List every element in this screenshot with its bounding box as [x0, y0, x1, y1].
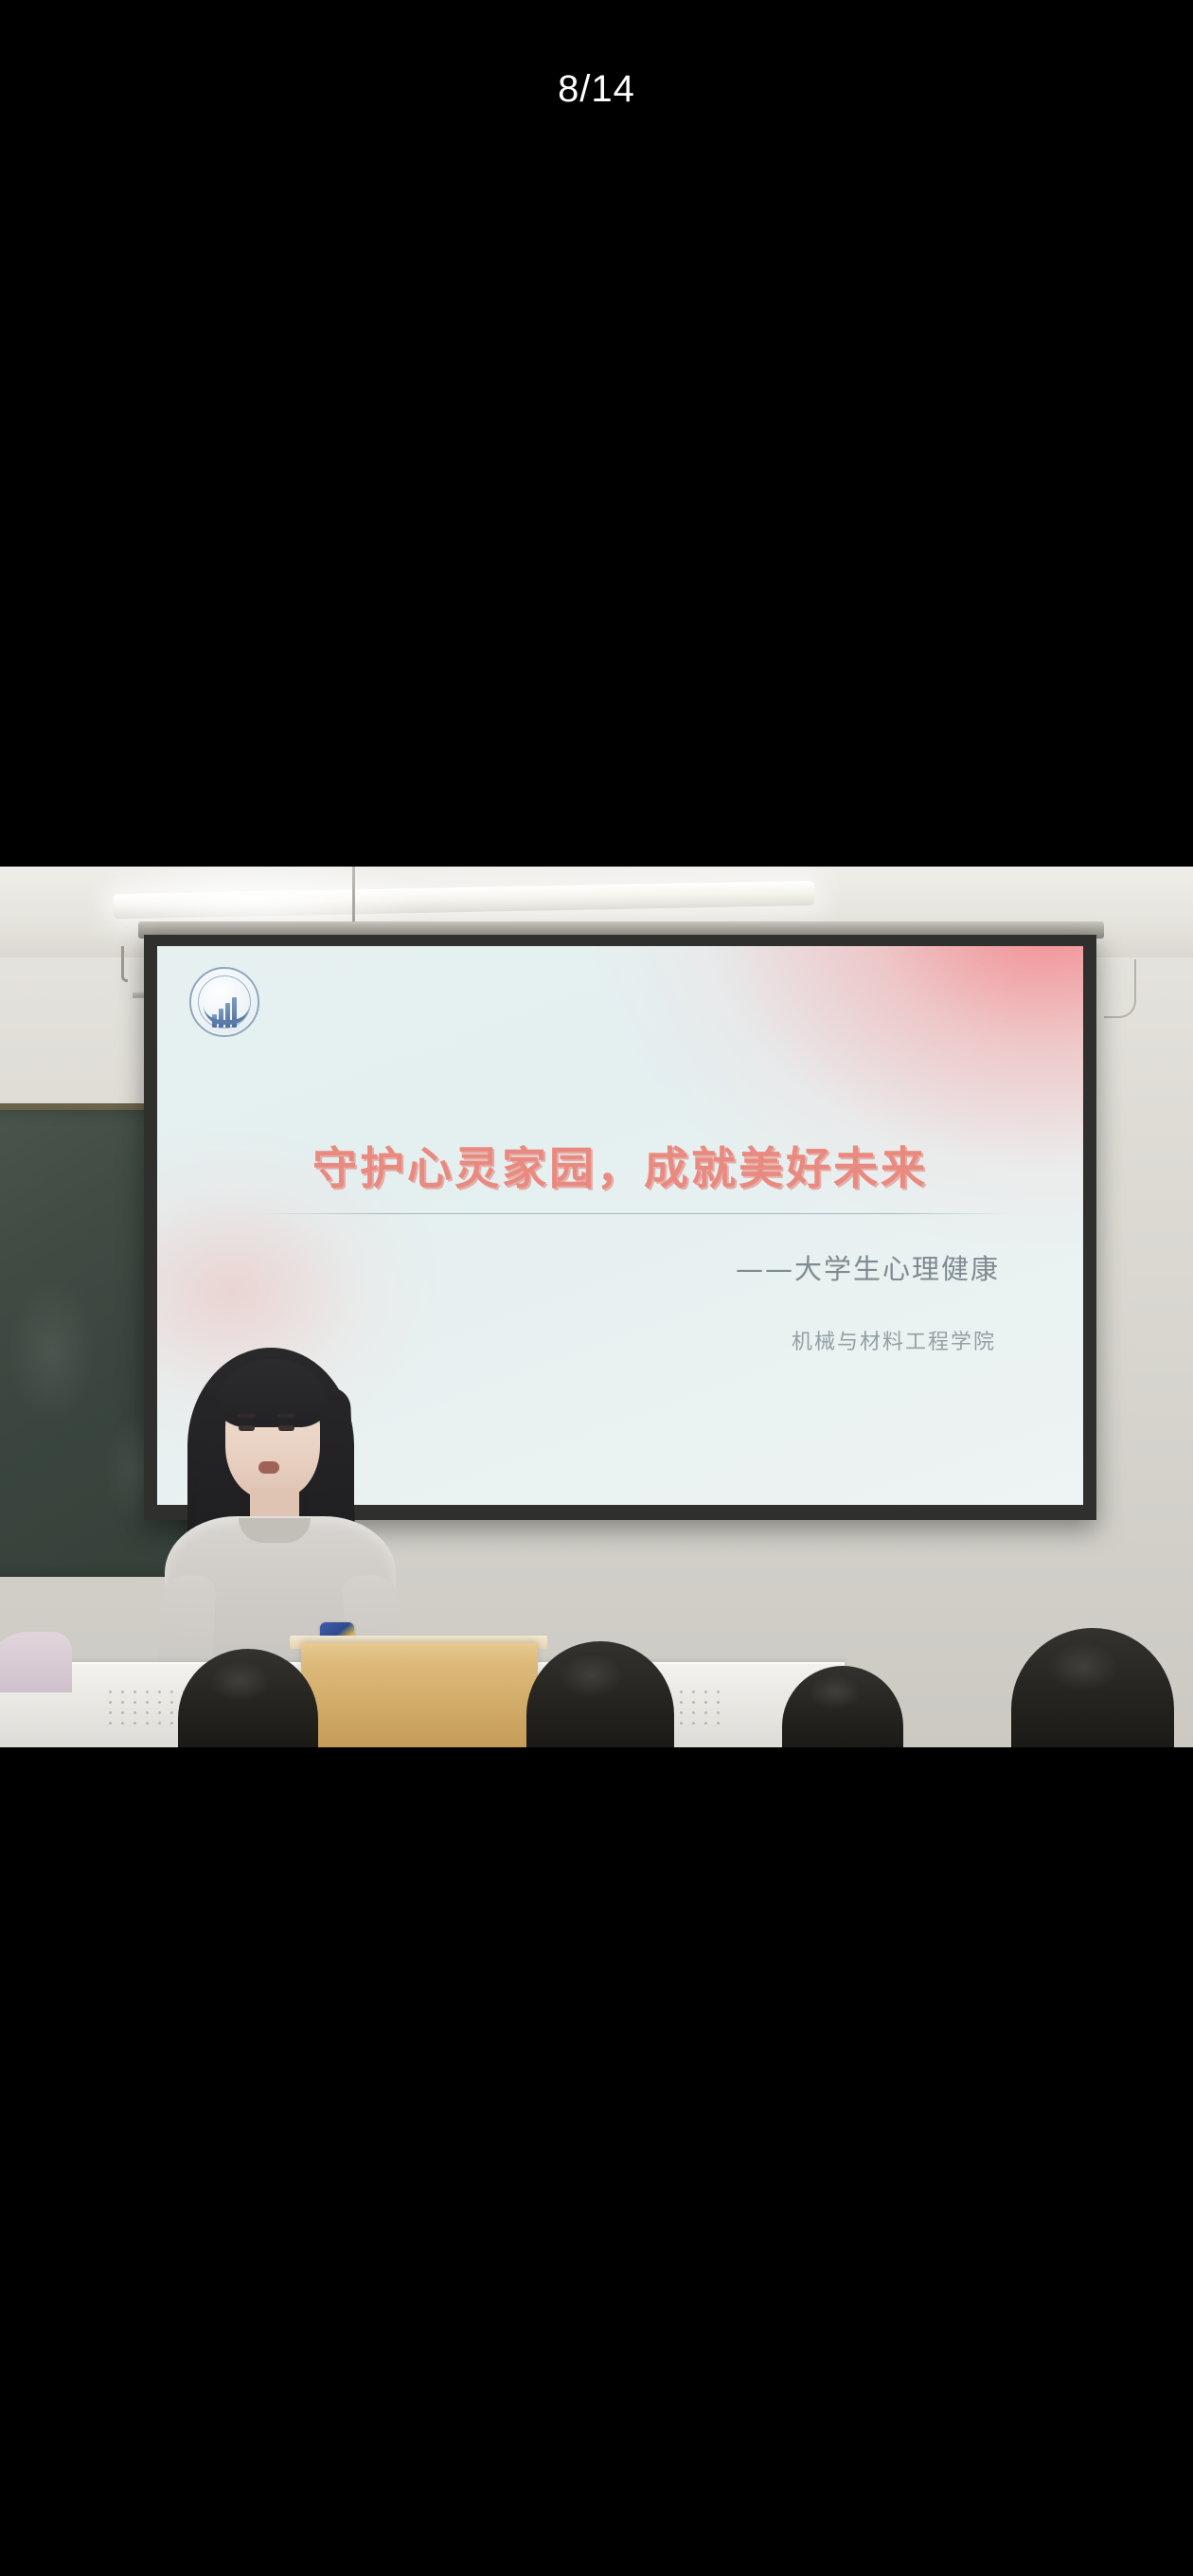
- hair-sheen: [809, 1675, 862, 1709]
- presenter-eye-right: [278, 1425, 294, 1431]
- hair-sheen: [1047, 1642, 1119, 1692]
- chalk-smudge: [9, 1280, 95, 1422]
- presenter-mouth: [258, 1461, 279, 1474]
- letterbox-top: [0, 0, 1193, 867]
- video-frame[interactable]: 守护心灵家园，成就美好未来 ——大学生心理健康 机械与材料工程学院: [0, 867, 1193, 1747]
- presenter-eyebrow-left: [237, 1414, 256, 1418]
- letterbox-bottom: [0, 1747, 1193, 2576]
- slide-department: 机械与材料工程学院: [792, 1325, 996, 1355]
- slide-subtitle: ——大学生心理健康: [736, 1247, 1000, 1287]
- wall-hook: [121, 946, 128, 982]
- page-indicator: 8/14: [0, 70, 1193, 108]
- hair-sheen: [209, 1660, 271, 1702]
- slide-divider: [254, 1213, 1011, 1214]
- desk-vent-pattern: [104, 1687, 189, 1726]
- presenter-eyebrow-right: [276, 1414, 295, 1418]
- video-viewer[interactable]: 8/14: [0, 0, 1193, 2576]
- audience-shoulder: [0, 1632, 72, 1692]
- wall-cable: [1104, 959, 1136, 1018]
- school-emblem-icon: [189, 967, 259, 1037]
- slide-title: 守护心灵家园，成就美好未来: [157, 1132, 1083, 1197]
- presenter-eye-left: [239, 1425, 255, 1431]
- wooden-podium: [301, 1643, 538, 1747]
- hair-sheen: [559, 1654, 624, 1698]
